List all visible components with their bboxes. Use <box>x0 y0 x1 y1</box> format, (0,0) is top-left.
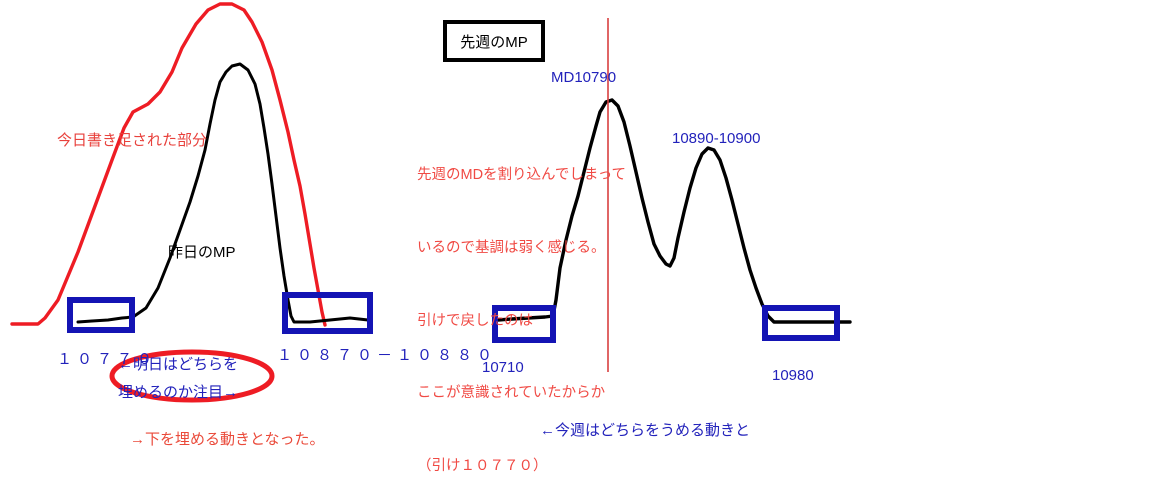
red-commentary-line-1: 先週のMDを割り込んでしまって <box>417 163 626 187</box>
annotation-today-added: 今日書き足された部分 <box>57 133 207 148</box>
left-chart-left-box <box>70 300 132 330</box>
red-commentary-line-3: 引けで戻したのは <box>417 309 626 333</box>
left-chart-red-curve <box>12 4 325 325</box>
blue-commentary-line-1: ←今週はどちらをうめる動きと <box>540 415 810 446</box>
title-box-label: 先週のMP <box>460 31 528 52</box>
annotation-yesterday-mp: 昨日のMP <box>168 245 236 260</box>
ellipse-note-line-1: ←明日はどちらを <box>118 357 238 372</box>
bottom-note-down-fill: →下を埋める動きとなった。 <box>130 432 325 447</box>
label-second-peak-10890-10900: 10890-10900 <box>672 131 760 146</box>
blue-commentary-block: ←今週はどちらをうめる動きと なるのか。予想はこのレンジの範囲内に 収まると思う… <box>540 353 810 485</box>
ellipse-note-line-2: 埋めるのか注目→ <box>118 385 238 400</box>
red-commentary-line-2: いるので基調は弱く感じる。 <box>417 236 626 260</box>
left-chart-black-curve <box>78 64 368 322</box>
left-chart-right-box <box>285 295 370 331</box>
label-md10790: MD10790 <box>551 70 616 85</box>
screenshot-canvas: 今日書き足された部分 昨日のMP １０７７０ １０８７０－１０８８０ ←明日はど… <box>0 0 1160 485</box>
title-box-last-week-mp: 先週のMP <box>443 20 545 62</box>
